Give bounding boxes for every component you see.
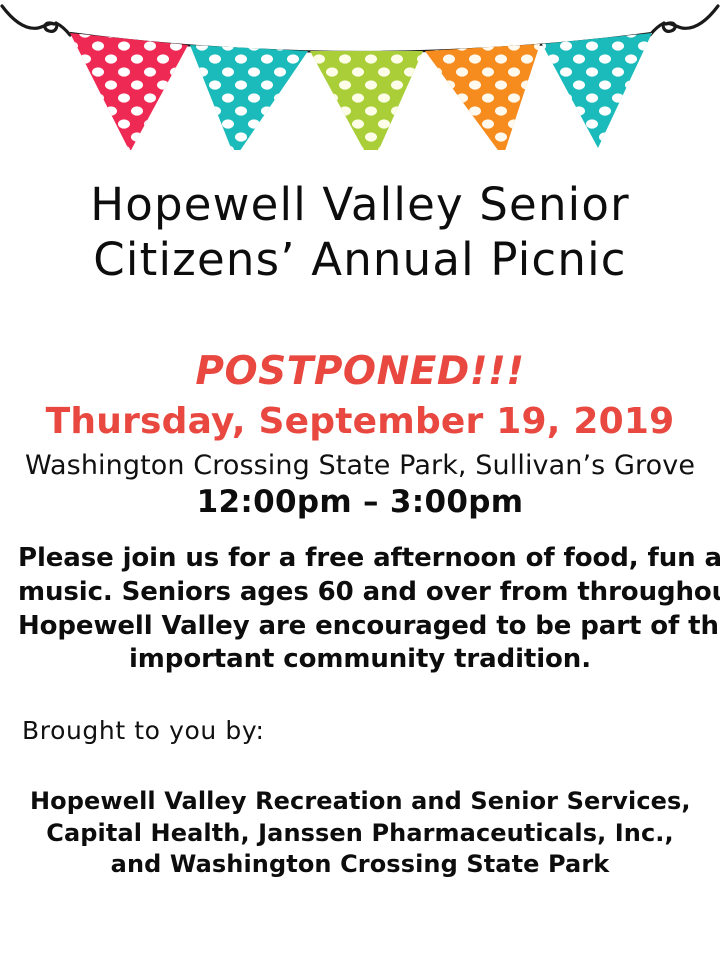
bunting-flag-2 — [190, 45, 308, 150]
event-venue: Washington Crossing State Park, Sullivan… — [0, 452, 720, 479]
bunting-banner — [0, 0, 720, 150]
bunting-flag-4 — [425, 44, 540, 150]
title-line-2: Citizens’ Annual Picnic — [0, 233, 720, 288]
bunting-string-right — [650, 6, 718, 35]
sponsor-line-2: Capital Health, Janssen Pharmaceuticals,… — [30, 818, 690, 850]
credits-sponsors: Hopewell Valley Recreation and Senior Se… — [30, 786, 690, 881]
event-flyer: Hopewell Valley Senior Citizens’ Annual … — [0, 0, 720, 960]
event-time: 12:00pm – 3:00pm — [0, 487, 720, 518]
body-copy: Please join us for a free afternoon of f… — [18, 542, 702, 677]
credits-heading: Brought to you by: — [22, 718, 264, 743]
event-date: Thursday, September 19, 2019 — [0, 404, 720, 440]
body-line-1: Please join us for a free afternoon of f… — [18, 542, 702, 576]
postponed-notice: POSTPONED!!! — [0, 352, 720, 391]
body-line-4: important community tradition. — [18, 643, 702, 677]
flyer-title: Hopewell Valley Senior Citizens’ Annual … — [0, 178, 720, 288]
bunting-flag-3 — [310, 51, 423, 150]
body-line-3: Hopewell Valley are encouraged to be par… — [18, 610, 702, 644]
bunting-flag-5 — [542, 33, 652, 148]
title-line-1: Hopewell Valley Senior — [0, 178, 720, 233]
sponsor-line-1: Hopewell Valley Recreation and Senior Se… — [30, 786, 690, 818]
sponsor-line-3: and Washington Crossing State Park — [30, 849, 690, 881]
body-line-2: music. Seniors ages 60 and over from thr… — [18, 576, 702, 610]
bunting-string-left — [2, 6, 70, 35]
bunting-flag-1 — [70, 33, 188, 150]
